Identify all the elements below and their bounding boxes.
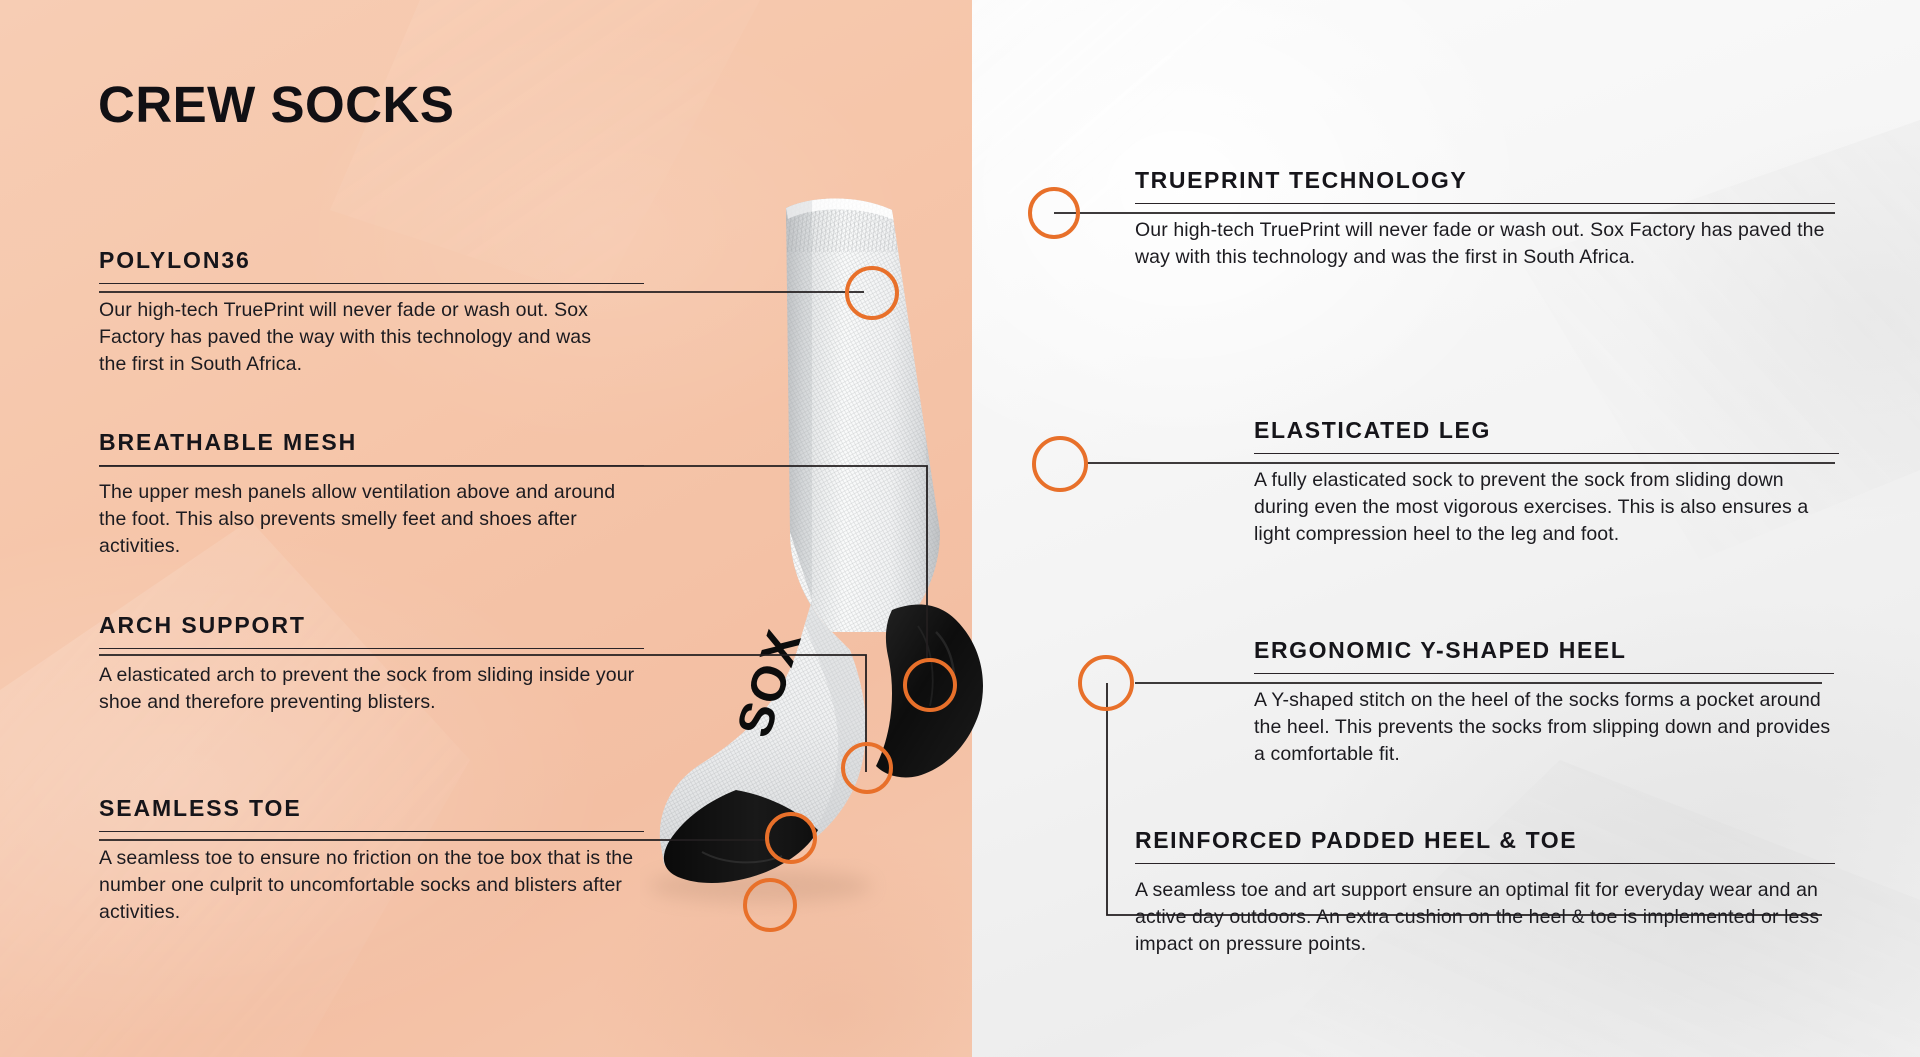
feature-rule-breathable-mesh — [99, 465, 644, 466]
feature-rule-arch-support — [99, 648, 644, 649]
feature-heading-polylon36: POLYLON36 — [99, 248, 644, 272]
page-title: CREW SOCKS — [98, 79, 454, 130]
feature-rule-polylon36 — [99, 283, 644, 284]
feature-body-breathable-mesh: The upper mesh panels allow ventilation … — [99, 479, 644, 560]
feature-heading-reinforced-padded-heel-toe: REINFORCED PADDED HEEL & TOE — [1135, 828, 1835, 852]
feature-body-elasticated-leg: A fully elasticated sock to prevent the … — [1254, 467, 1839, 548]
feature-breathable-mesh: BREATHABLE MESH The upper mesh panels al… — [99, 430, 644, 560]
feature-body-ergonomic-y-shaped-heel: A Y-shaped stitch on the heel of the soc… — [1254, 687, 1834, 768]
feature-heading-seamless-toe: SEAMLESS TOE — [99, 796, 644, 820]
feature-reinforced-padded-heel-toe: REINFORCED PADDED HEEL & TOE A seamless … — [1135, 828, 1835, 958]
feature-body-trueprint-technology: Our high-tech TruePrint will never fade … — [1135, 217, 1825, 271]
feature-polylon36: POLYLON36 Our high-tech TruePrint will n… — [99, 248, 644, 378]
feature-heading-ergonomic-y-shaped-heel: ERGONOMIC Y-SHAPED HEEL — [1254, 638, 1834, 662]
feature-arch-support: ARCH SUPPORT A elasticated arch to preve… — [99, 613, 644, 716]
hotspot-arch-support[interactable] — [841, 742, 893, 794]
hotspot-polylon36[interactable] — [845, 266, 899, 320]
infographic-page: CREW SOCKS — [0, 0, 1920, 1057]
feature-seamless-toe: SEAMLESS TOE A seamless toe to ensure no… — [99, 796, 644, 926]
feature-body-arch-support: A elasticated arch to prevent the sock f… — [99, 662, 639, 716]
feature-heading-trueprint-technology: TRUEPRINT TECHNOLOGY — [1135, 168, 1835, 192]
feature-body-reinforced-padded-heel-toe: A seamless toe and art support ensure an… — [1135, 877, 1835, 958]
feature-heading-breathable-mesh: BREATHABLE MESH — [99, 430, 644, 454]
feature-body-polylon36: Our high-tech TruePrint will never fade … — [99, 297, 599, 378]
feature-rule-elasticated-leg — [1254, 453, 1839, 454]
feature-heading-elasticated-leg: ELASTICATED LEG — [1254, 418, 1839, 442]
hotspot-breathable-mesh[interactable] — [903, 658, 957, 712]
hotspot-ergonomic-y-shaped-heel[interactable] — [1078, 655, 1134, 711]
feature-rule-trueprint-technology — [1135, 203, 1835, 204]
feature-heading-arch-support: ARCH SUPPORT — [99, 613, 644, 637]
hotspot-elasticated-leg[interactable] — [1032, 436, 1088, 492]
hotspot-reinforced-padded-toe[interactable] — [743, 878, 797, 932]
feature-body-seamless-toe: A seamless toe to ensure no friction on … — [99, 845, 647, 926]
feature-ergonomic-y-shaped-heel: ERGONOMIC Y-SHAPED HEEL A Y-shaped stitc… — [1254, 638, 1834, 768]
feature-rule-seamless-toe — [99, 831, 644, 832]
feature-elasticated-leg: ELASTICATED LEG A fully elasticated sock… — [1254, 418, 1839, 548]
hotspot-seamless-toe[interactable] — [765, 812, 817, 864]
feature-rule-ergonomic-y-shaped-heel — [1254, 673, 1834, 674]
feature-rule-reinforced-padded-heel-toe — [1135, 863, 1835, 864]
hotspot-trueprint-technology[interactable] — [1028, 187, 1080, 239]
feature-trueprint-technology: TRUEPRINT TECHNOLOGY Our high-tech TrueP… — [1135, 168, 1835, 271]
